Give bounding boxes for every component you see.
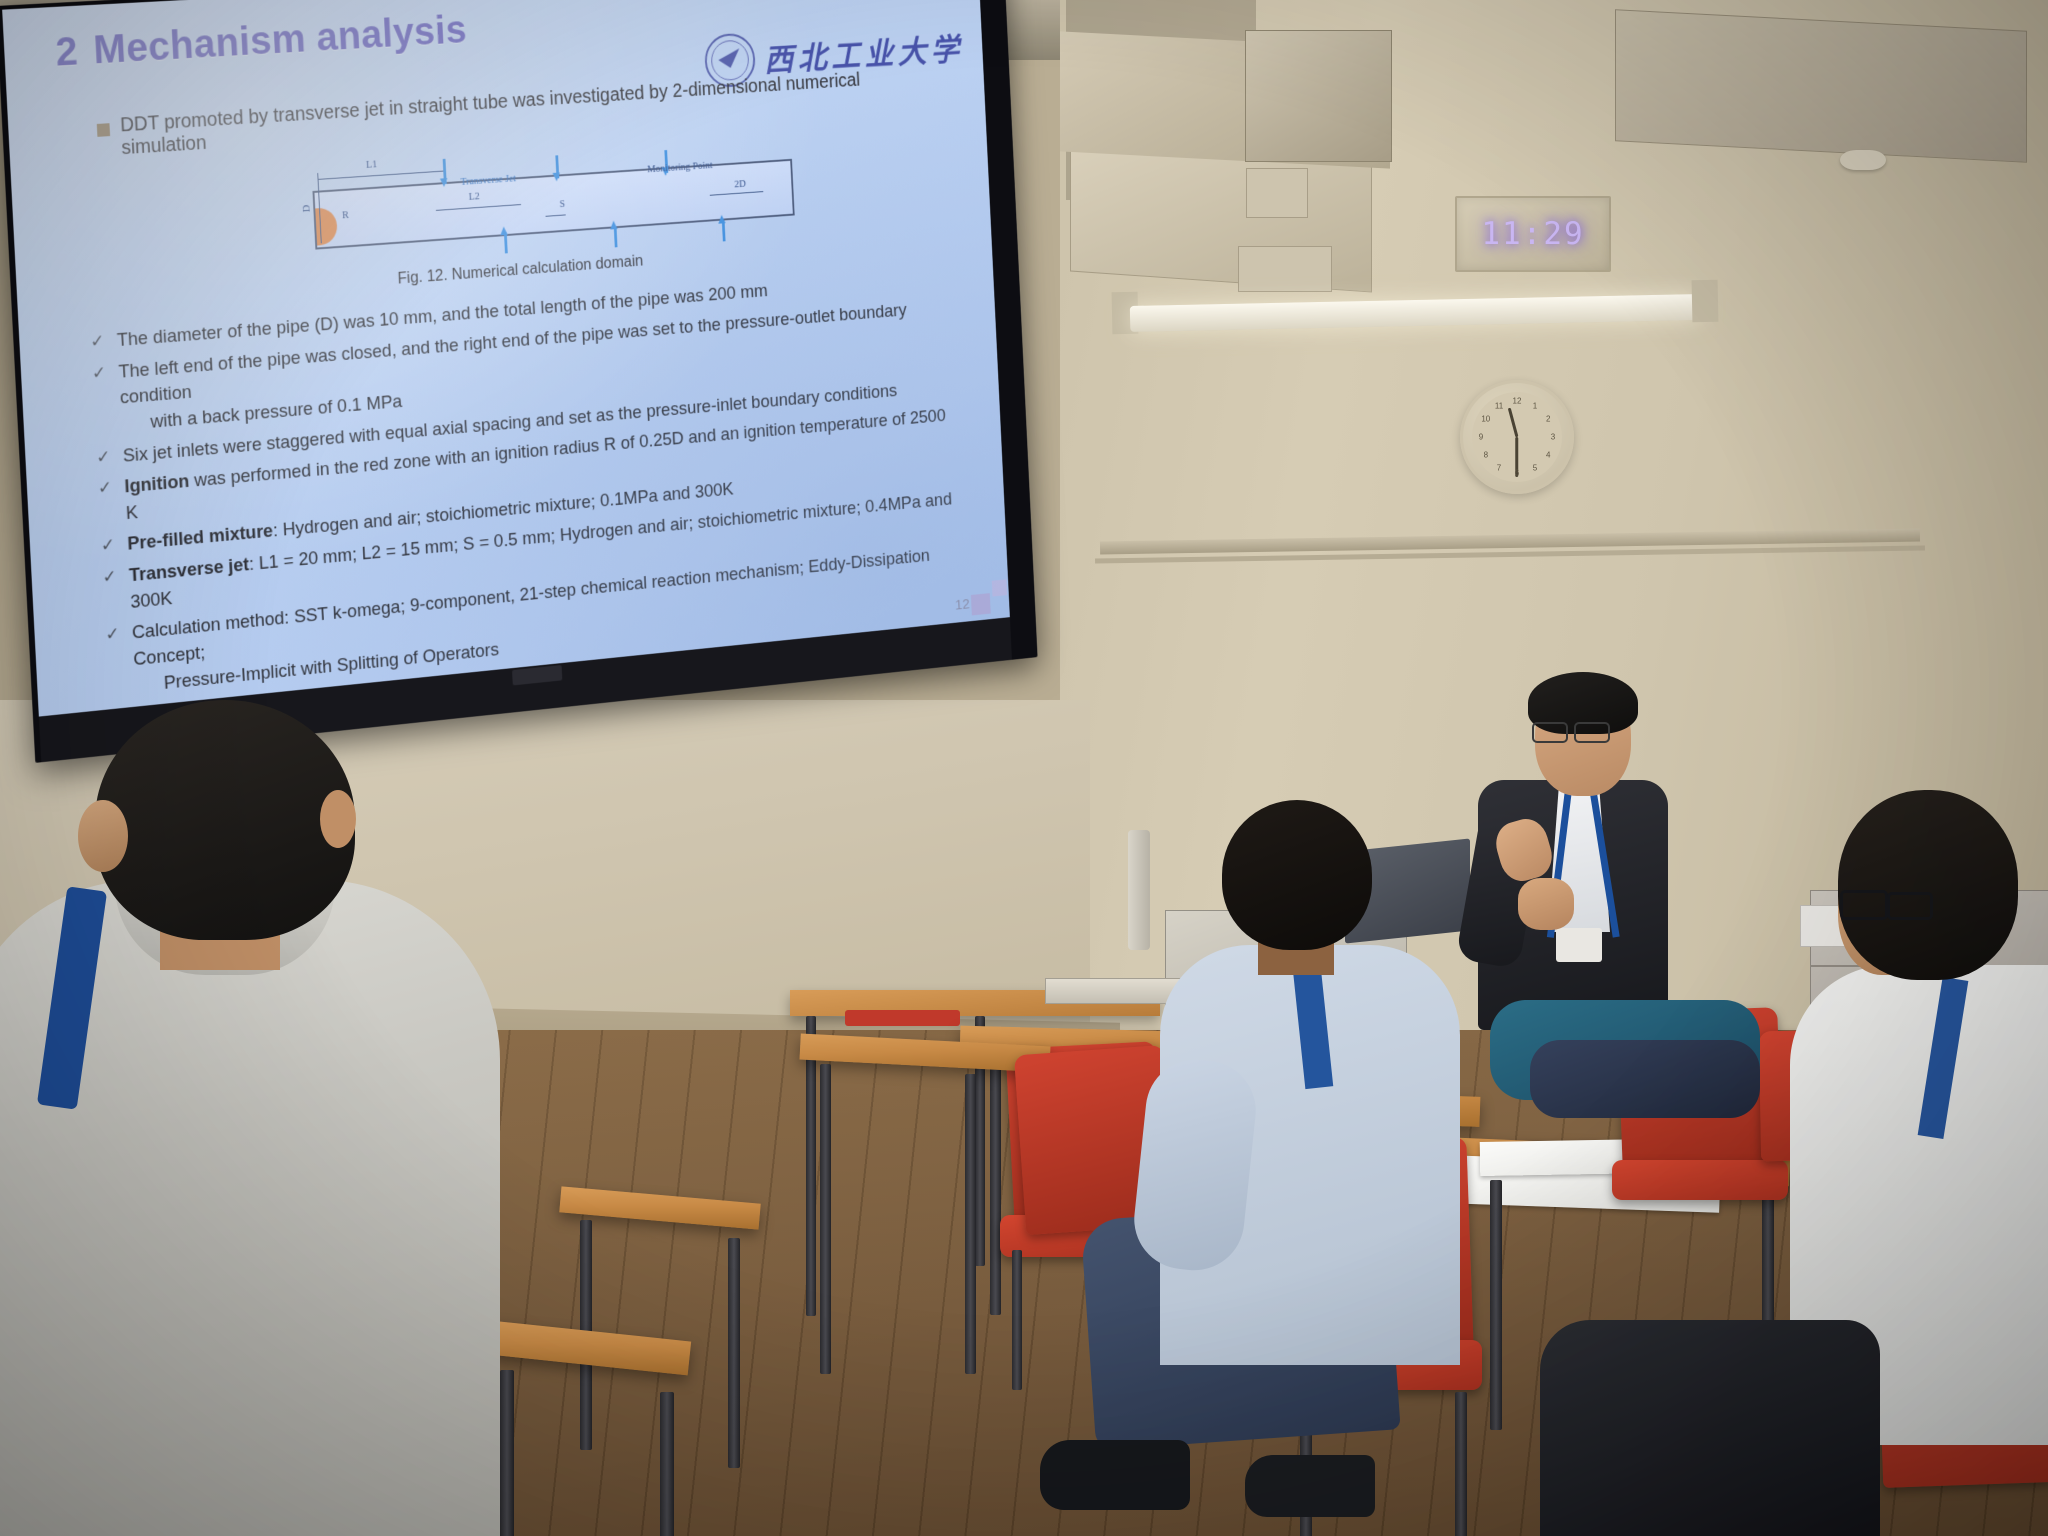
bullet-bold-prefix: Transverse jet [129,553,250,585]
check-icon: ✓ [91,361,109,440]
bullet-bold-prefix: Ignition [124,470,190,496]
slide-decoration-square [971,593,991,615]
diagram-label-2d: 2D [734,179,746,190]
check-icon: ✓ [102,565,119,618]
student-right-hair [1838,790,2018,980]
air-duct [1615,9,2027,163]
microphone-stand[interactable] [1128,830,1150,950]
lecture-room-scene: 11:29 121234567891011 2Mechanism analysi… [0,0,2048,1536]
diagram-label-s: S [559,199,565,210]
jet-arrow-icon [553,172,561,181]
desk-leg [820,1064,831,1374]
light-fixture-end-right [1692,280,1719,323]
chair-seat[interactable] [1612,1160,1788,1200]
digital-clock-time: 11:29 [1481,216,1584,252]
slide-decoration-square [992,579,1007,596]
bullet-bold-prefix: Pre-filled mixture [127,520,273,554]
clock-numeral: 3 [1551,433,1555,442]
student-center-shoe [1245,1455,1375,1517]
jet-arrow-icon [718,215,726,224]
check-icon: ✓ [100,533,115,560]
clock-numeral: 6 [1515,469,1519,478]
student-foreground-ear [78,800,128,872]
jet-arrow-icon [440,178,448,187]
student-right-glasses [1840,890,1926,914]
clock-numeral: 9 [1479,433,1483,442]
bag-foreground-black [1540,1320,1880,1536]
desk-leg [965,1074,976,1374]
student-center-shoe [1040,1440,1190,1510]
check-icon: ✓ [90,329,105,355]
clock-numeral: 1 [1533,401,1537,410]
dimension-tick [317,173,319,195]
check-icon: ✓ [96,445,111,472]
desk-leg [990,1055,1001,1315]
square-bullet-icon [97,123,110,137]
clock-numeral: 12 [1513,397,1522,406]
backpack-navy [1530,1040,1760,1118]
jet-arrow-stem [722,220,725,241]
desk-leg [1490,1180,1502,1430]
diagram-label-l1: L1 [366,159,378,170]
desk-leg [728,1238,740,1468]
check-icon: ✓ [97,476,114,529]
wall-plate-upper [1246,168,1308,218]
jet-arrow-icon [500,226,508,235]
desk-leg [660,1392,674,1536]
student-foreground-ear [320,790,356,848]
diagram-label-r: R [342,210,349,221]
slide-title-number: 2 [55,30,79,75]
clock-numeral: 5 [1533,464,1537,473]
clock-numeral: 11 [1495,401,1503,410]
chair-leg [1455,1392,1467,1536]
clock-face: 121234567891011 [1472,392,1562,482]
numerical-domain-diagram: L1 L2 S D R 2D Transverse Jet Monitoring… [275,129,816,264]
analog-wall-clock: 121234567891011 [1460,380,1574,494]
digital-clock: 11:29 [1455,196,1611,272]
smoke-detector-icon [1840,150,1886,170]
red-object-on-desk [845,1010,960,1026]
desk-leg [500,1370,514,1536]
presentation-slide: 2Mechanism analysis 西北工业大学 DDT promoted … [2,0,1010,717]
chair-leg [1012,1250,1022,1390]
clock-numeral: 8 [1484,451,1488,460]
clock-numeral: 10 [1481,415,1490,424]
projector-housing [1245,30,1392,162]
jet-arrow-icon [610,220,618,229]
diagram-label-d: D [302,204,313,212]
clock-hour-hand [1508,408,1519,438]
check-icon: ✓ [105,622,123,701]
presenter-glasses [1532,722,1616,740]
clock-numeral: 2 [1546,415,1550,424]
student-foreground-head [95,700,355,940]
slide-title-text: Mechanism analysis [92,8,467,72]
clock-numeral: 7 [1497,464,1501,473]
jet-arrow-stem [614,226,617,247]
slide-title: 2Mechanism analysis [55,8,468,75]
desk-leg [806,1016,816,1316]
presenter-hand [1518,878,1574,930]
slide-page-number: 12 [955,596,970,613]
dimension-line-l1 [318,171,444,180]
wall-plate-lower [1238,246,1332,292]
student-center-head [1222,800,1372,950]
presenter-badge [1556,928,1602,962]
projection-screen: 2Mechanism analysis 西北工业大学 DDT promoted … [0,0,1038,763]
clock-numeral: 4 [1546,451,1550,460]
diagram-label-l2: L2 [469,191,480,202]
